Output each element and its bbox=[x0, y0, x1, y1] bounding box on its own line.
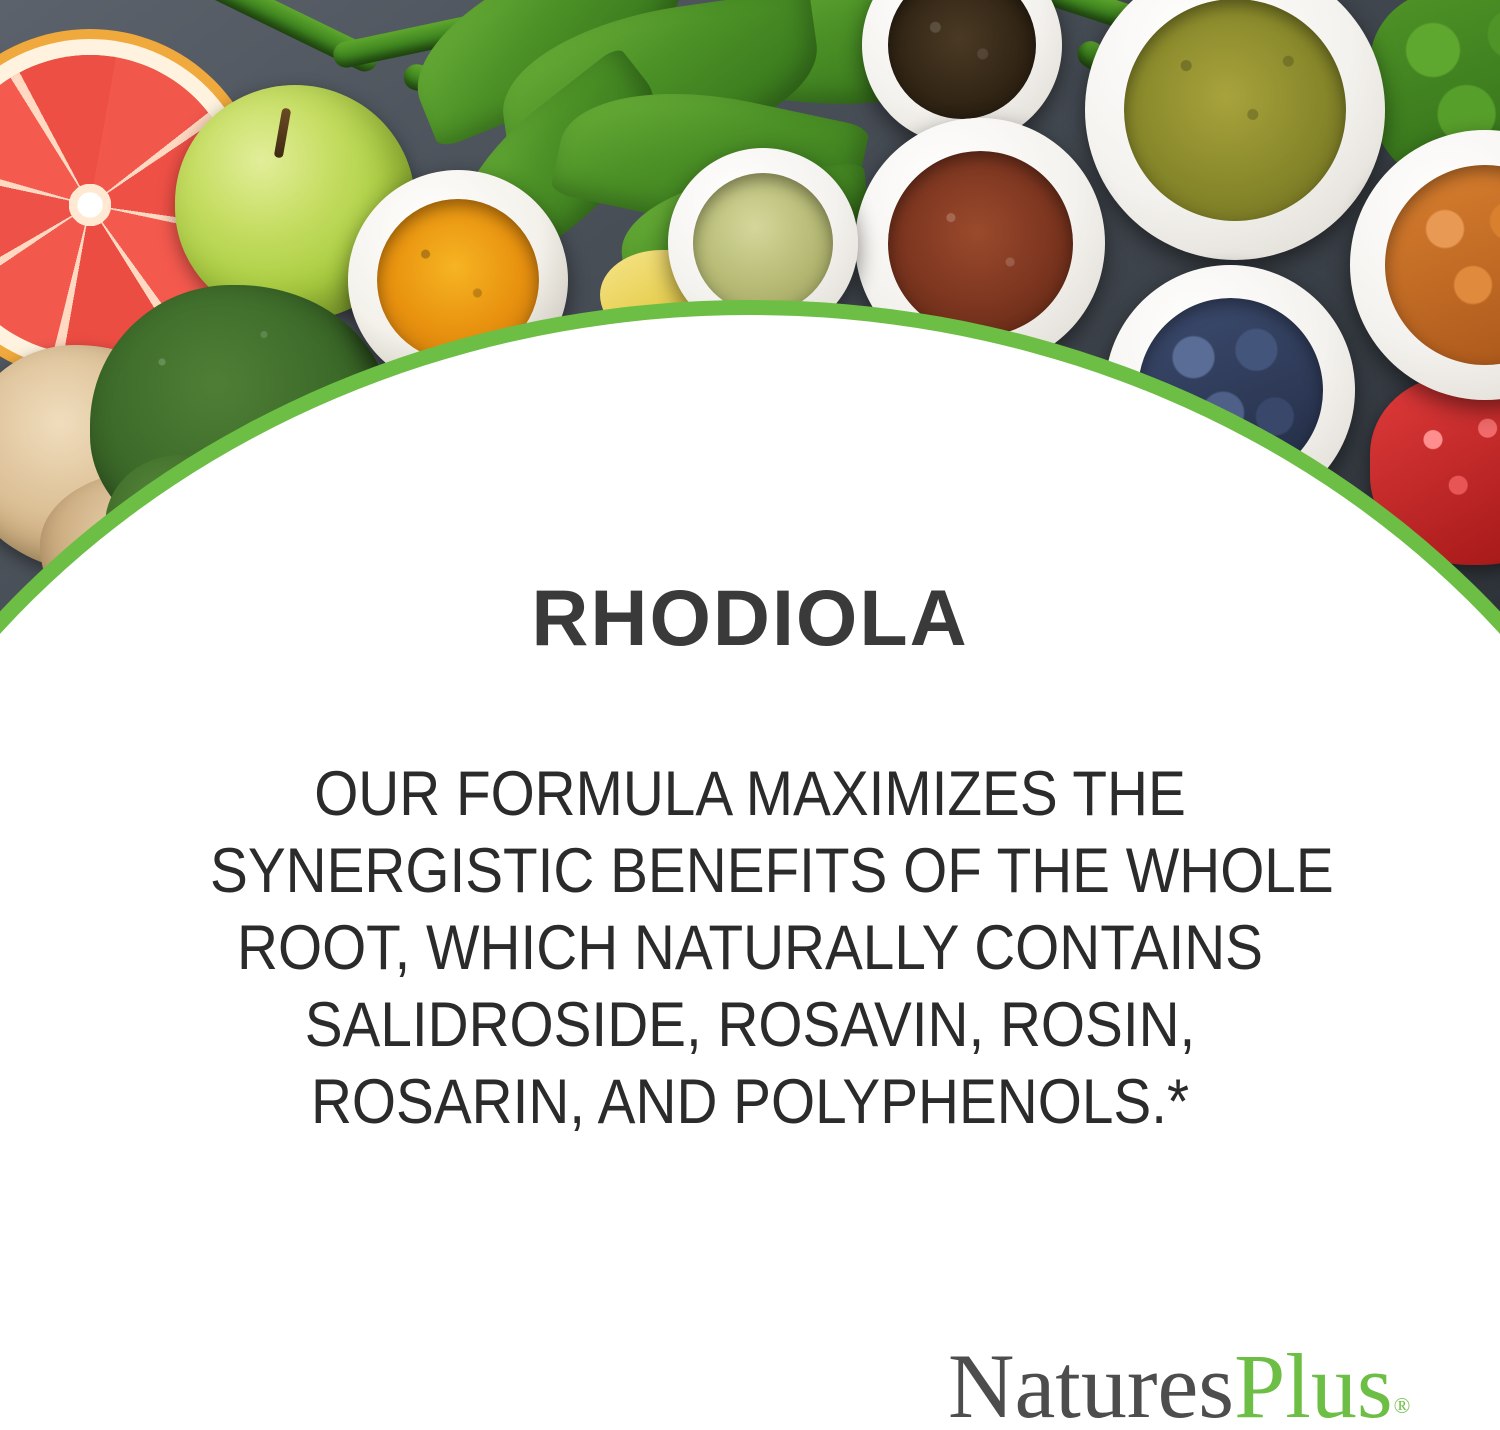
description-line: SALIDROSIDE, ROSAVIN, ROSIN, bbox=[210, 987, 1290, 1064]
page-title: RHODIOLA bbox=[0, 578, 1500, 657]
description-text: OUR FORMULA MAXIMIZES THE SYNERGISTIC BE… bbox=[210, 756, 1290, 1141]
description-line: ROOT, WHICH NATURALLY CONTAINS bbox=[210, 910, 1290, 987]
description-line: ROSARIN, AND POLYPHENOLS.* bbox=[210, 1064, 1290, 1141]
description-line: SYNERGISTIC BENEFITS OF THE WHOLE bbox=[210, 833, 1290, 910]
logo-text-natures: Natures bbox=[948, 1335, 1234, 1430]
logo-text-plus: Plus bbox=[1234, 1335, 1393, 1430]
product-marketing-panel: RHODIOLA OUR FORMULA MAXIMIZES THE SYNER… bbox=[0, 0, 1500, 1430]
naturesplus-logo: NaturesPlus® bbox=[948, 1340, 1409, 1430]
content-area: RHODIOLA OUR FORMULA MAXIMIZES THE SYNER… bbox=[0, 0, 1500, 1430]
description-line: OUR FORMULA MAXIMIZES THE bbox=[210, 756, 1290, 833]
registered-trademark-icon: ® bbox=[1394, 1393, 1411, 1418]
